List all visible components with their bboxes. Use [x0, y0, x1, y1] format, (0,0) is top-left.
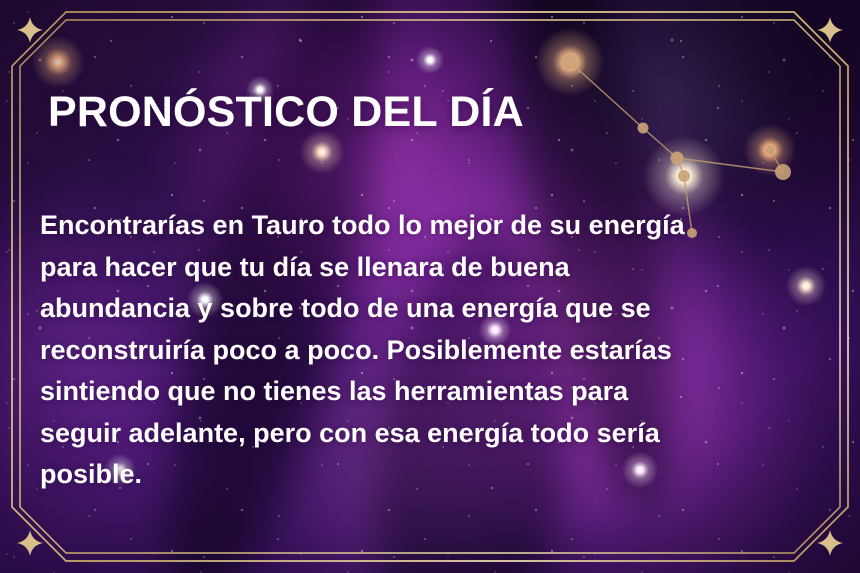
- forecast-line: sintiendo que no tienes las herramientas…: [40, 371, 830, 413]
- forecast-line: para hacer que tu día se llenara de buen…: [40, 247, 830, 289]
- glow-star: [744, 124, 796, 176]
- forecast-line: reconstruiría poco a poco. Posiblemente …: [40, 330, 830, 372]
- glow-star: [416, 46, 444, 74]
- forecast-line: Encontrarías en Tauro todo lo mejor de s…: [40, 205, 830, 247]
- forecast-line: seguir adelante, pero con esa energía to…: [40, 413, 830, 455]
- horoscope-card: PRONÓSTICO DEL DÍA Encontrarías en Tauro…: [0, 0, 860, 573]
- glow-star: [300, 130, 344, 174]
- glow-star: [536, 28, 604, 96]
- forecast-line: abundancia y sobre todo de una energía q…: [40, 288, 830, 330]
- glow-star: [644, 136, 724, 216]
- forecast-line: posible.: [40, 454, 830, 496]
- glow-star: [32, 36, 84, 88]
- forecast-body-text: Encontrarías en Tauro todo lo mejor de s…: [40, 205, 830, 496]
- page-title: PRONÓSTICO DEL DÍA: [48, 90, 524, 135]
